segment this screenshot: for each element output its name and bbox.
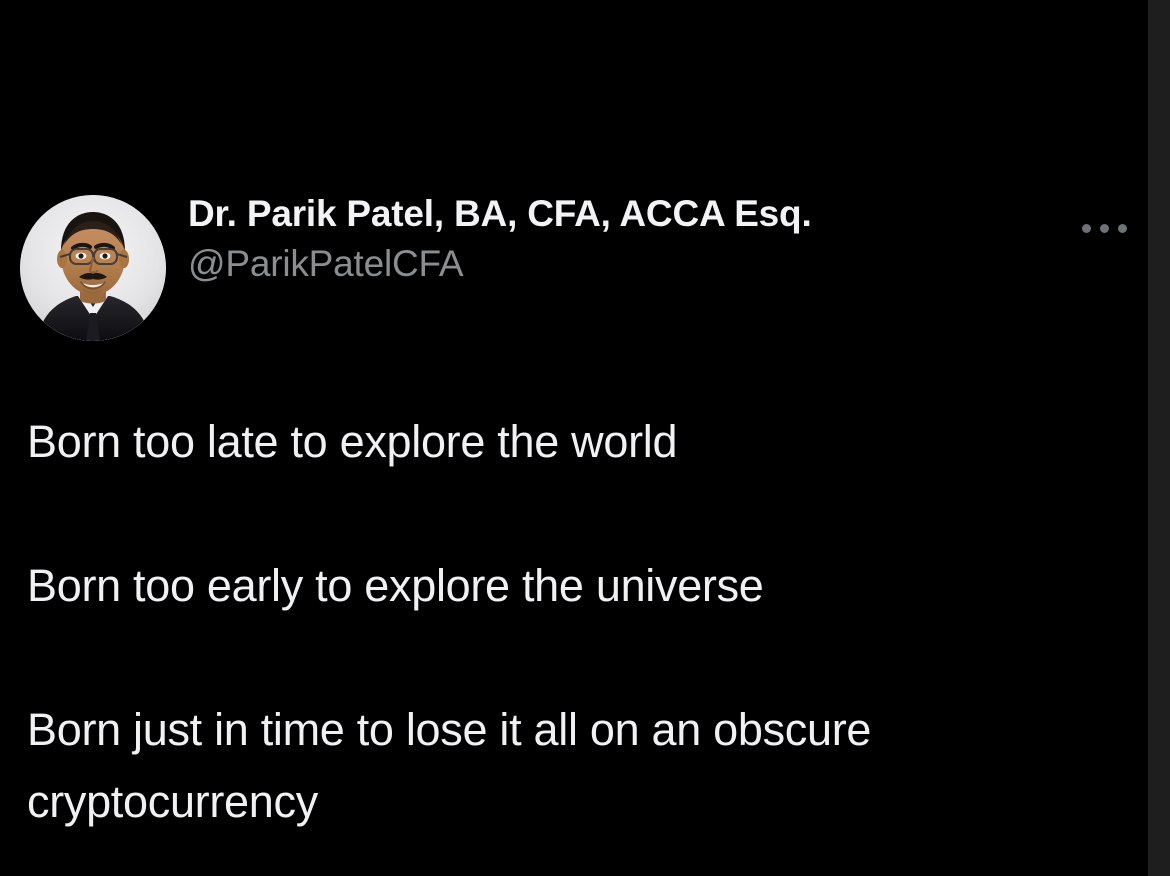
avatar[interactable] [20,195,166,341]
more-horizontal-icon[interactable] [1068,206,1140,250]
author-block[interactable]: Dr. Parik Patel, BA, CFA, ACCA Esq. @Par… [188,190,1068,290]
tweet-body: Born too late to explore the world Born … [27,406,1047,838]
right-edge-strip [1148,0,1170,876]
more-dot-1 [1082,224,1091,233]
more-dot-2 [1100,224,1109,233]
tweet-screenshot: Dr. Parik Patel, BA, CFA, ACCA Esq. @Par… [0,0,1170,876]
display-name[interactable]: Dr. Parik Patel, BA, CFA, ACCA Esq. [188,190,1068,238]
tweet-paragraph: Born too early to explore the universe [27,550,1047,622]
tweet-header: Dr. Parik Patel, BA, CFA, ACCA Esq. @Par… [0,190,1148,340]
tweet-paragraph: Born just in time to lose it all on an o… [27,694,1047,838]
user-handle[interactable]: @ParikPatelCFA [188,238,1068,290]
more-dot-3 [1118,224,1127,233]
tweet-paragraph: Born too late to explore the world [27,406,1047,478]
avatar-portrait-icon [20,195,166,341]
